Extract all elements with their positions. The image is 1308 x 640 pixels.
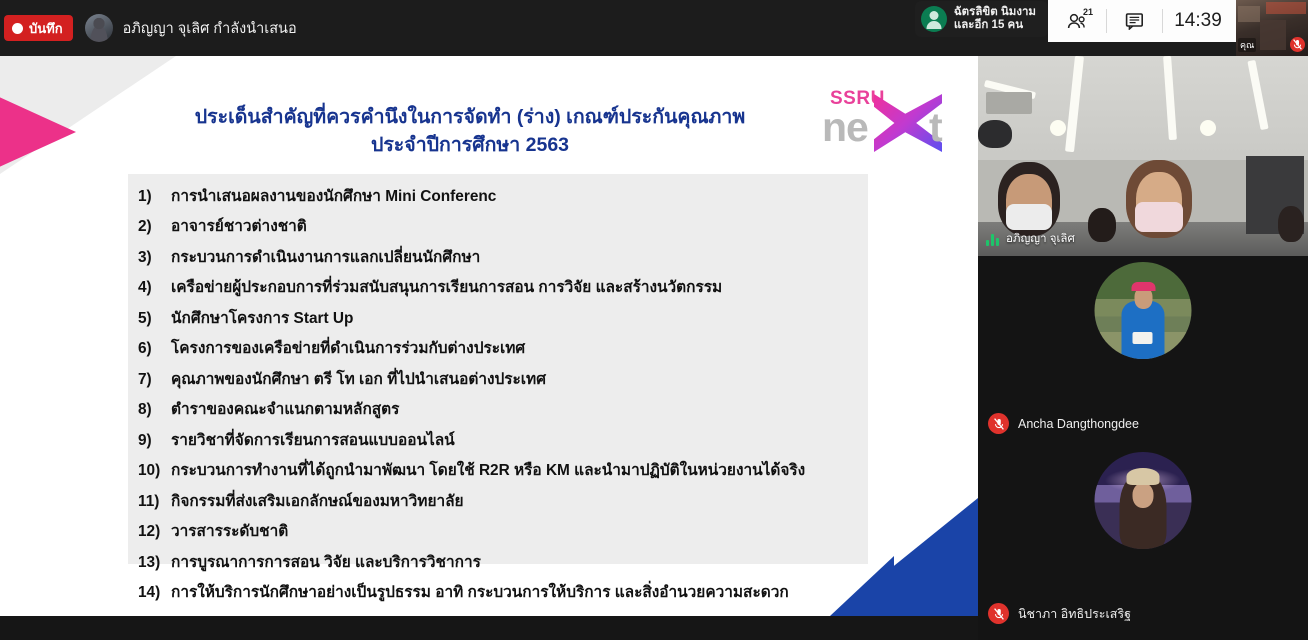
face-mask — [1135, 202, 1183, 232]
slide-list-item: 5)นักศึกษาโครงการ Start Up — [128, 303, 868, 334]
list-item-number: 1) — [138, 189, 162, 204]
avatar — [85, 14, 113, 42]
slide-list-item: 13)การบูรณาการการสอน วิจัย และบริการวิชา… — [128, 547, 868, 578]
logo-t-text: t — [929, 104, 943, 151]
control-cluster: 21 14:39 — [1048, 0, 1236, 42]
tile-name-label: อภิญญา จุเลิศ — [1006, 230, 1075, 248]
participant-sidebar: อภิญญา จุเลิศ Ancha Dangthongdee — [978, 56, 1308, 640]
presentation-stage[interactable]: ประเด็นสำคัญที่ควรคำนึงในการจัดทำ (ร่าง)… — [0, 56, 978, 640]
slide-title-line1: ประเด็นสำคัญที่ควรคำนึงในการจัดทำ (ร่าง)… — [120, 104, 820, 132]
list-item-text: วารสารระดับชาติ — [171, 524, 288, 539]
list-item-number: 3) — [138, 250, 162, 265]
chat-icon — [1125, 12, 1144, 30]
participant-row: Ancha Dangthongdee — [988, 413, 1139, 434]
list-item-text: กิจกรรมที่ส่งเสริมเอกลักษณ์ของมหาวิทยาลั… — [171, 494, 464, 509]
list-item-number: 2) — [138, 219, 162, 234]
list-item-text: เครือข่ายผู้ประกอบการที่ร่วมสนับสนุนการเ… — [171, 280, 722, 295]
active-speaker-label: อภิญญา จุเลิศ กำลังนำเสนอ — [123, 17, 297, 40]
slide-list-item: 11)กิจกรรมที่ส่งเสริมเอกลักษณ์ของมหาวิทย… — [128, 486, 868, 517]
self-view-tile[interactable]: คุณ — [1236, 0, 1308, 56]
participant-name: นิชาภา อิทธิประเสริฐ — [1018, 604, 1131, 624]
list-item-number: 12) — [138, 524, 162, 539]
list-item-text: รายวิชาที่จัดการเรียนการสอนแบบออนไลน์ — [171, 433, 455, 448]
record-dot-icon — [12, 23, 23, 34]
slide-list-item: 1)การนำเสนอผลงานของนักศึกษา Mini Confere… — [128, 181, 868, 212]
list-item-text: กระบวนการดำเนินงานการแลกเปลี่ยนนักศึกษา — [171, 250, 480, 265]
list-item-number: 9) — [138, 433, 162, 448]
mic-muted-icon — [1290, 37, 1305, 52]
participants-count: 21 — [1083, 7, 1093, 17]
avatar — [921, 6, 947, 32]
person-silhouette — [1278, 206, 1304, 242]
slide: ประเด็นสำคัญที่ควรคำนึงในการจัดทำ (ร่าง)… — [0, 56, 978, 616]
list-item-number: 14) — [138, 585, 162, 600]
slide-title-line2: ประจำปีการศึกษา 2563 — [120, 132, 820, 160]
runner-photo-avatar — [1095, 262, 1192, 359]
participant-name: Ancha Dangthongdee — [1018, 417, 1139, 431]
list-item-number: 10) — [138, 463, 162, 478]
active-speaker-name-overlay: อภิญญา จุเลิศ — [986, 230, 1075, 248]
active-speaker-chip: อภิญญา จุเลิศ กำลังนำเสนอ — [85, 14, 297, 42]
mic-muted-icon — [988, 413, 1009, 434]
slide-list-item: 7)คุณภาพของนักศึกษา ตรี โท เอก ที่ไปนำเส… — [128, 364, 868, 395]
recording-label: บันทึก — [29, 18, 63, 39]
slide-bullet-list: 1)การนำเสนอผลงานของนักศึกษา Mini Confere… — [128, 174, 868, 564]
slide-list-item: 12)วารสารระดับชาติ — [128, 517, 868, 548]
list-item-number: 11) — [138, 494, 162, 509]
list-item-number: 4) — [138, 280, 162, 295]
slide-list-item: 14)การให้บริการนักศึกษาอย่างเป็นรูปธรรม … — [128, 578, 868, 609]
top-bar: บันทึก อภิญญา จุเลิศ กำลังนำเสนอ ฉัตรลิข… — [0, 0, 1308, 56]
ssru-next-logo: SSRU ne t — [816, 86, 956, 150]
participants-button[interactable]: 21 — [1050, 0, 1106, 42]
participant-tile[interactable]: Ancha Dangthongdee — [978, 258, 1308, 448]
list-item-text: การให้บริการนักศึกษาอย่างเป็นรูปธรรม อาท… — [171, 585, 789, 600]
slide-list-item: 6)โครงการของเครือข่ายที่ดำเนินการร่วมกับ… — [128, 334, 868, 365]
list-item-text: นักศึกษาโครงการ Start Up — [171, 311, 353, 326]
meeting-others-count: และอีก 15 คน — [954, 19, 1036, 32]
list-item-text: การนำเสนอผลงานของนักศึกษา Mini Conferenc — [171, 189, 496, 204]
participant-tile[interactable]: นิชาภา อิทธิประเสริฐ — [978, 448, 1308, 638]
self-view-label: คุณ — [1238, 38, 1256, 52]
list-item-number: 6) — [138, 341, 162, 356]
active-speaker-video-tile[interactable]: อภิญญา จุเลิศ — [978, 56, 1308, 256]
slide-list-item: 10)กระบวนการทำงานที่ได้ถูกนำมาพัฒนา โดยใ… — [128, 456, 868, 487]
meeting-owner-name: ฉัตรลิขิต นิมงาม — [954, 6, 1036, 19]
camera-object — [978, 120, 1012, 148]
top-right-controls: ฉัตรลิขิต นิมงาม และอีก 15 คน 21 — [915, 0, 1308, 56]
face-mask — [1006, 204, 1052, 230]
list-item-text: ตำราของคณะจำแนกตามหลักสูตร — [171, 402, 399, 417]
slide-list-item: 2)อาจารย์ชาวต่างชาติ — [128, 212, 868, 243]
winter-photo-avatar — [1095, 452, 1192, 549]
meeting-owner-chip[interactable]: ฉัตรลิขิต นิมงาม และอีก 15 คน — [915, 1, 1048, 37]
list-item-text: คุณภาพของนักศึกษา ตรี โท เอก ที่ไปนำเสนอ… — [171, 372, 546, 387]
list-item-text: การบูรณาการการสอน วิจัย และบริการวิชาการ — [171, 555, 481, 570]
list-item-text: อาจารย์ชาวต่างชาติ — [171, 219, 307, 234]
recording-badge[interactable]: บันทึก — [4, 15, 73, 41]
list-item-text: โครงการของเครือข่ายที่ดำเนินการร่วมกับต่… — [171, 341, 525, 356]
person-silhouette — [1088, 208, 1116, 242]
logo-ne-text: ne — [822, 104, 868, 151]
mic-muted-icon — [988, 603, 1009, 624]
slide-list-item: 4)เครือข่ายผู้ประกอบการที่ร่วมสนับสนุนกา… — [128, 273, 868, 304]
slide-list-item: 3)กระบวนการดำเนินงานการแลกเปลี่ยนนักศึกษ… — [128, 242, 868, 273]
meeting-screen: บันทึก อภิญญา จุเลิศ กำลังนำเสนอ ฉัตรลิข… — [0, 0, 1308, 640]
slide-title: ประเด็นสำคัญที่ควรคำนึงในการจัดทำ (ร่าง)… — [120, 104, 820, 159]
slide-list-item: 9)รายวิชาที่จัดการเรียนการสอนแบบออนไลน์ — [128, 425, 868, 456]
list-item-number: 7) — [138, 372, 162, 387]
list-item-number: 8) — [138, 402, 162, 417]
list-item-text: กระบวนการทำงานที่ได้ถูกนำมาพัฒนา โดยใช้ … — [171, 463, 805, 478]
participant-row: นิชาภา อิทธิประเสริฐ — [988, 603, 1131, 624]
list-item-number: 5) — [138, 311, 162, 326]
chat-button[interactable] — [1106, 0, 1162, 42]
slide-list-item: 8)ตำราของคณะจำแนกตามหลักสูตร — [128, 395, 868, 426]
clock: 14:39 — [1162, 0, 1234, 42]
list-item-number: 13) — [138, 555, 162, 570]
audio-bars-icon — [986, 233, 999, 246]
